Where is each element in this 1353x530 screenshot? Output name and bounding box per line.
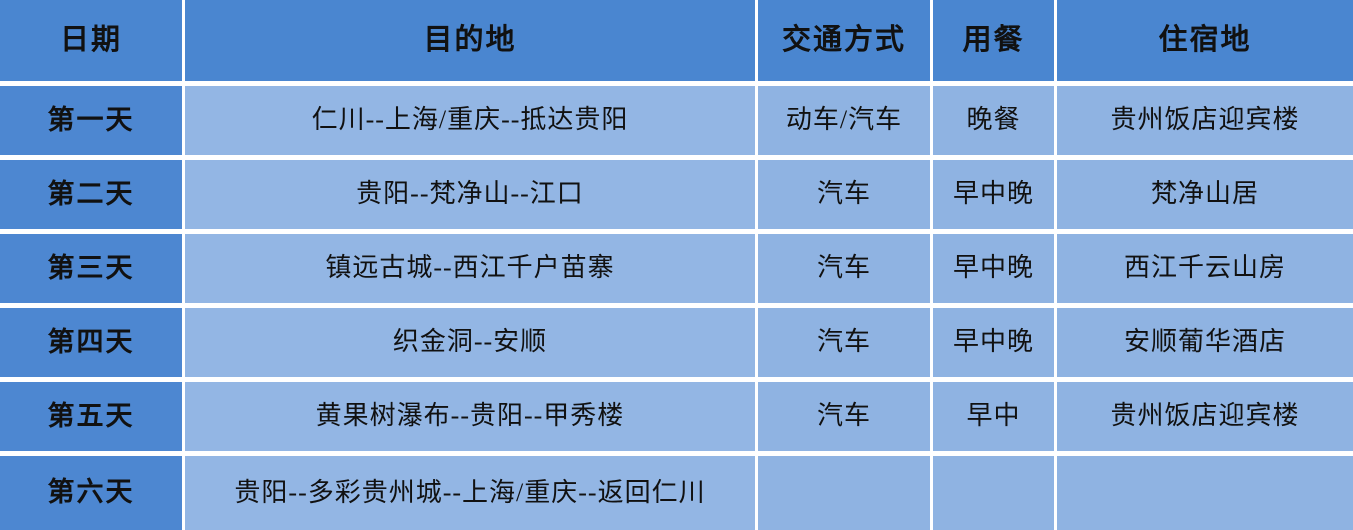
table-row: 第三天 镇远古城--西江千户苗寨 汽车 早中晚 西江千云山房 bbox=[0, 234, 1353, 308]
cell-meal: 早中晚 bbox=[933, 160, 1057, 234]
table-row: 第一天 仁川--上海/重庆--抵达贵阳 动车/汽车 晚餐 贵州饭店迎宾楼 bbox=[0, 86, 1353, 160]
cell-destination-text: 仁川--上海/重庆--抵达贵阳 bbox=[185, 106, 755, 135]
cell-destination: 镇远古城--西江千户苗寨 bbox=[185, 234, 758, 308]
cell-meal: 早中晚 bbox=[933, 234, 1057, 308]
cell-meal-text: 晚餐 bbox=[933, 106, 1054, 135]
cell-transport: 汽车 bbox=[758, 234, 933, 308]
cell-lodging: 梵净山居 bbox=[1057, 160, 1353, 234]
cell-transport-text: 汽车 bbox=[758, 180, 930, 209]
table-body: 第一天 仁川--上海/重庆--抵达贵阳 动车/汽车 晚餐 贵州饭店迎宾楼 第二天… bbox=[0, 86, 1353, 530]
cell-date-text: 第二天 bbox=[0, 180, 182, 210]
cell-lodging-text: 贵州饭店迎宾楼 bbox=[1057, 402, 1353, 431]
cell-lodging: 西江千云山房 bbox=[1057, 234, 1353, 308]
cell-date: 第二天 bbox=[0, 160, 185, 234]
cell-meal-text: 早中 bbox=[933, 402, 1054, 431]
cell-transport-text: 汽车 bbox=[758, 328, 930, 357]
column-header-meal: 用餐 bbox=[933, 0, 1057, 86]
table-row: 第五天 黄果树瀑布--贵阳--甲秀楼 汽车 早中 贵州饭店迎宾楼 bbox=[0, 382, 1353, 456]
cell-date-text: 第五天 bbox=[0, 402, 182, 432]
cell-transport-text: 汽车 bbox=[758, 402, 930, 431]
cell-date-text: 第一天 bbox=[0, 106, 182, 136]
cell-lodging: 安顺葡华酒店 bbox=[1057, 308, 1353, 382]
column-header-transport: 交通方式 bbox=[758, 0, 933, 86]
table-header: 日期 目的地 交通方式 用餐 住宿地 bbox=[0, 0, 1353, 86]
cell-date-text: 第三天 bbox=[0, 254, 182, 284]
cell-lodging: 贵州饭店迎宾楼 bbox=[1057, 86, 1353, 160]
cell-meal: 晚餐 bbox=[933, 86, 1057, 160]
cell-destination: 仁川--上海/重庆--抵达贵阳 bbox=[185, 86, 758, 160]
cell-destination-text: 镇远古城--西江千户苗寨 bbox=[185, 254, 755, 283]
cell-lodging-text: 安顺葡华酒店 bbox=[1057, 328, 1353, 357]
column-header-date: 日期 bbox=[0, 0, 185, 86]
cell-meal-text: 早中晚 bbox=[933, 328, 1054, 357]
cell-destination-text: 黄果树瀑布--贵阳--甲秀楼 bbox=[185, 402, 755, 431]
cell-destination: 织金洞--安顺 bbox=[185, 308, 758, 382]
cell-destination-text: 织金洞--安顺 bbox=[185, 328, 755, 357]
table-row: 第四天 织金洞--安顺 汽车 早中晚 安顺葡华酒店 bbox=[0, 308, 1353, 382]
cell-date: 第四天 bbox=[0, 308, 185, 382]
cell-transport: 汽车 bbox=[758, 382, 933, 456]
cell-transport-text: 动车/汽车 bbox=[758, 106, 930, 135]
column-header-lodging: 住宿地 bbox=[1057, 0, 1353, 86]
cell-meal-text: 早中晚 bbox=[933, 254, 1054, 283]
cell-destination-text: 贵阳--梵净山--江口 bbox=[185, 180, 755, 209]
column-header-destination-label: 目的地 bbox=[185, 25, 755, 57]
cell-meal: 早中晚 bbox=[933, 308, 1057, 382]
cell-date: 第三天 bbox=[0, 234, 185, 308]
cell-date-text: 第四天 bbox=[0, 328, 182, 358]
cell-transport: 汽车 bbox=[758, 308, 933, 382]
header-row: 日期 目的地 交通方式 用餐 住宿地 bbox=[0, 0, 1353, 86]
column-header-destination: 目的地 bbox=[185, 0, 758, 86]
column-header-transport-label: 交通方式 bbox=[758, 25, 930, 57]
column-header-lodging-label: 住宿地 bbox=[1057, 25, 1353, 57]
cell-meal-text: 早中晚 bbox=[933, 180, 1054, 209]
cell-lodging-text: 西江千云山房 bbox=[1057, 254, 1353, 283]
cell-transport: 汽车 bbox=[758, 160, 933, 234]
column-header-meal-label: 用餐 bbox=[933, 25, 1054, 57]
cell-lodging-text: 贵州饭店迎宾楼 bbox=[1057, 106, 1353, 135]
cell-date-text: 第六天 bbox=[0, 478, 182, 508]
cell-destination: 贵阳--梵净山--江口 bbox=[185, 160, 758, 234]
cell-meal: 早中 bbox=[933, 382, 1057, 456]
itinerary-table: 日期 目的地 交通方式 用餐 住宿地 第一天 仁川--上海/重庆--抵达贵阳 bbox=[0, 0, 1353, 530]
column-header-date-label: 日期 bbox=[0, 25, 182, 57]
table-row: 第二天 贵阳--梵净山--江口 汽车 早中晚 梵净山居 bbox=[0, 160, 1353, 234]
cell-date: 第五天 bbox=[0, 382, 185, 456]
cell-date: 第一天 bbox=[0, 86, 185, 160]
cell-transport-text: 汽车 bbox=[758, 254, 930, 283]
cell-lodging: 贵州饭店迎宾楼 bbox=[1057, 382, 1353, 456]
cell-destination-text: 贵阳--多彩贵州城--上海/重庆--返回仁川 bbox=[185, 479, 755, 508]
cell-transport: 动车/汽车 bbox=[758, 86, 933, 160]
cell-lodging-text: 梵净山居 bbox=[1057, 180, 1353, 209]
cell-destination: 黄果树瀑布--贵阳--甲秀楼 bbox=[185, 382, 758, 456]
